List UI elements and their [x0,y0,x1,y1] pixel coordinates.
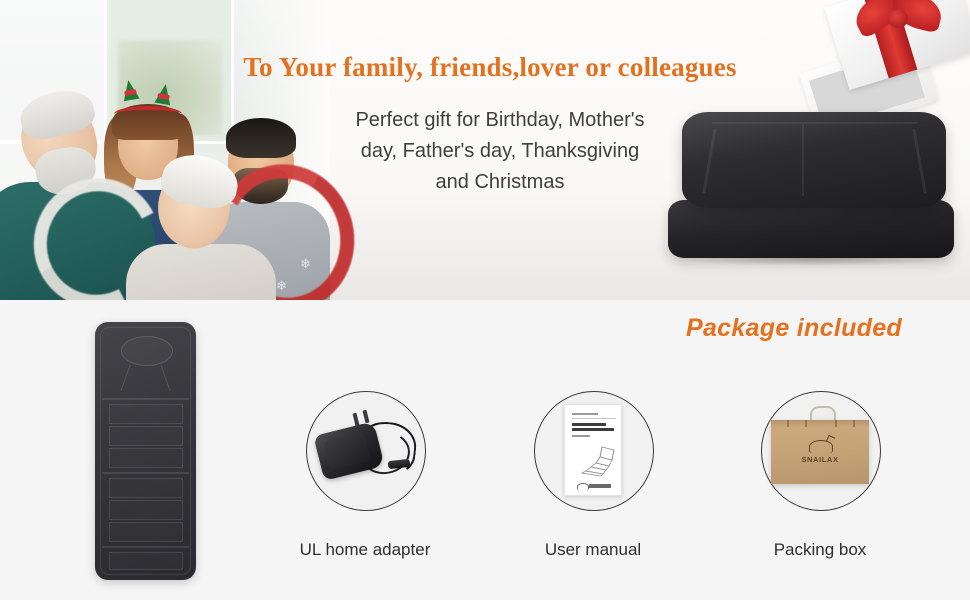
manual-title-line [572,428,614,431]
mat-seam [912,128,926,194]
snail-logo-icon [577,483,589,490]
package-caption-manual: User manual [483,540,703,560]
grandma-body [126,244,276,300]
hero-section: ❄ ❄ ❄ To Your family, friends,lover or c… [0,0,970,300]
christmas-tree-icon [120,79,139,101]
manual-text-line [572,435,590,437]
mat-fold-line [102,398,189,400]
user-manual-icon [564,404,622,496]
mat-seam [702,128,716,194]
manual-title-line [572,423,606,426]
mat-panel [109,448,183,468]
hero-subtext: Perfect gift for Birthday, Mother's day,… [300,105,700,198]
adapter-prong [362,410,369,424]
man-hair [226,118,296,158]
manual-product-illustration [572,445,618,477]
mat-panel [109,404,183,424]
packing-box-icon: SNAILAX [771,414,869,484]
snowflake-icon: ❄ [276,278,287,294]
package-caption-box: Packing box [710,540,930,560]
hero-subtext-line: day, Father's day, Thanksgiving [300,136,700,167]
hero-subtext-line: Perfect gift for Birthday, Mother's [300,105,700,136]
family-photo: ❄ ❄ ❄ [0,86,330,300]
manual-rule [572,418,616,419]
package-caption-adapter: UL home adapter [255,540,475,560]
hero-headline: To Your family, friends,lover or colleag… [180,52,800,83]
flat-massage-mat [95,322,196,580]
hero-subtext-line: and Christmas [300,167,700,198]
power-adapter-icon [316,406,416,492]
gift-box-graphic [800,0,970,120]
box-flap-tick [787,420,789,427]
mat-lower-fold [668,200,954,258]
christmas-headband [114,106,182,122]
mat-upper-fold [682,112,946,208]
box-flap-tick [805,420,807,427]
snowflake-icon: ❄ [300,256,311,272]
mat-panel [109,426,183,446]
mat-seam [712,122,918,124]
gift-bow-knot [888,10,908,28]
mat-panel [109,478,183,498]
christmas-tree-icon [154,83,173,105]
mat-panel [109,552,183,570]
package-included-title: Package included [686,314,902,343]
mat-panel [109,500,183,520]
mat-head-pillow [121,336,173,366]
box-flap-tick [853,420,855,427]
box-flap-tick [835,420,837,427]
folded-massage-mat [668,112,960,270]
product-marketing-image: ❄ ❄ ❄ To Your family, friends,lover or c… [0,0,970,600]
mat-seam [802,124,804,196]
mat-panel [109,522,183,542]
brand-wordmark: SNAILAX [795,455,845,464]
mat-fold-line [102,546,189,548]
mat-fold-line [102,472,189,474]
brand-wordmark [589,484,611,488]
manual-text-line [572,413,598,415]
